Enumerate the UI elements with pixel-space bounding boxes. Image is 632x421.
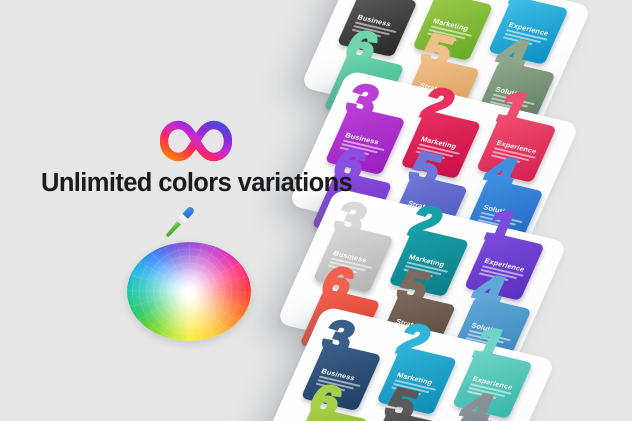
color-wheel-icon[interactable] xyxy=(127,242,251,341)
infinity-icon xyxy=(160,118,232,164)
slide-stack: 3Business2Marketing1Experience6Creative5… xyxy=(330,0,632,421)
slide-card[interactable]: Marketing xyxy=(388,228,469,297)
slide-card[interactable]: Marketing xyxy=(376,346,457,415)
color-wheel-rings xyxy=(127,242,251,341)
color-picker-group xyxy=(118,200,258,348)
slide-card[interactable]: Experience xyxy=(464,232,545,301)
slide-card[interactable]: Experience xyxy=(488,0,569,65)
slide-card[interactable]: Marketing xyxy=(400,110,481,179)
slide-card[interactable]: Experience xyxy=(452,350,533,419)
page-title: Unlimited colors variations xyxy=(41,167,351,199)
poster-canvas: 3Business2Marketing1Experience6Creative5… xyxy=(0,0,632,421)
eyedropper-icon[interactable] xyxy=(154,200,200,250)
slide-card[interactable]: Experience xyxy=(476,114,557,183)
hero-panel: Unlimited colors variations xyxy=(0,0,360,421)
slide-card[interactable]: Marketing xyxy=(412,0,493,61)
